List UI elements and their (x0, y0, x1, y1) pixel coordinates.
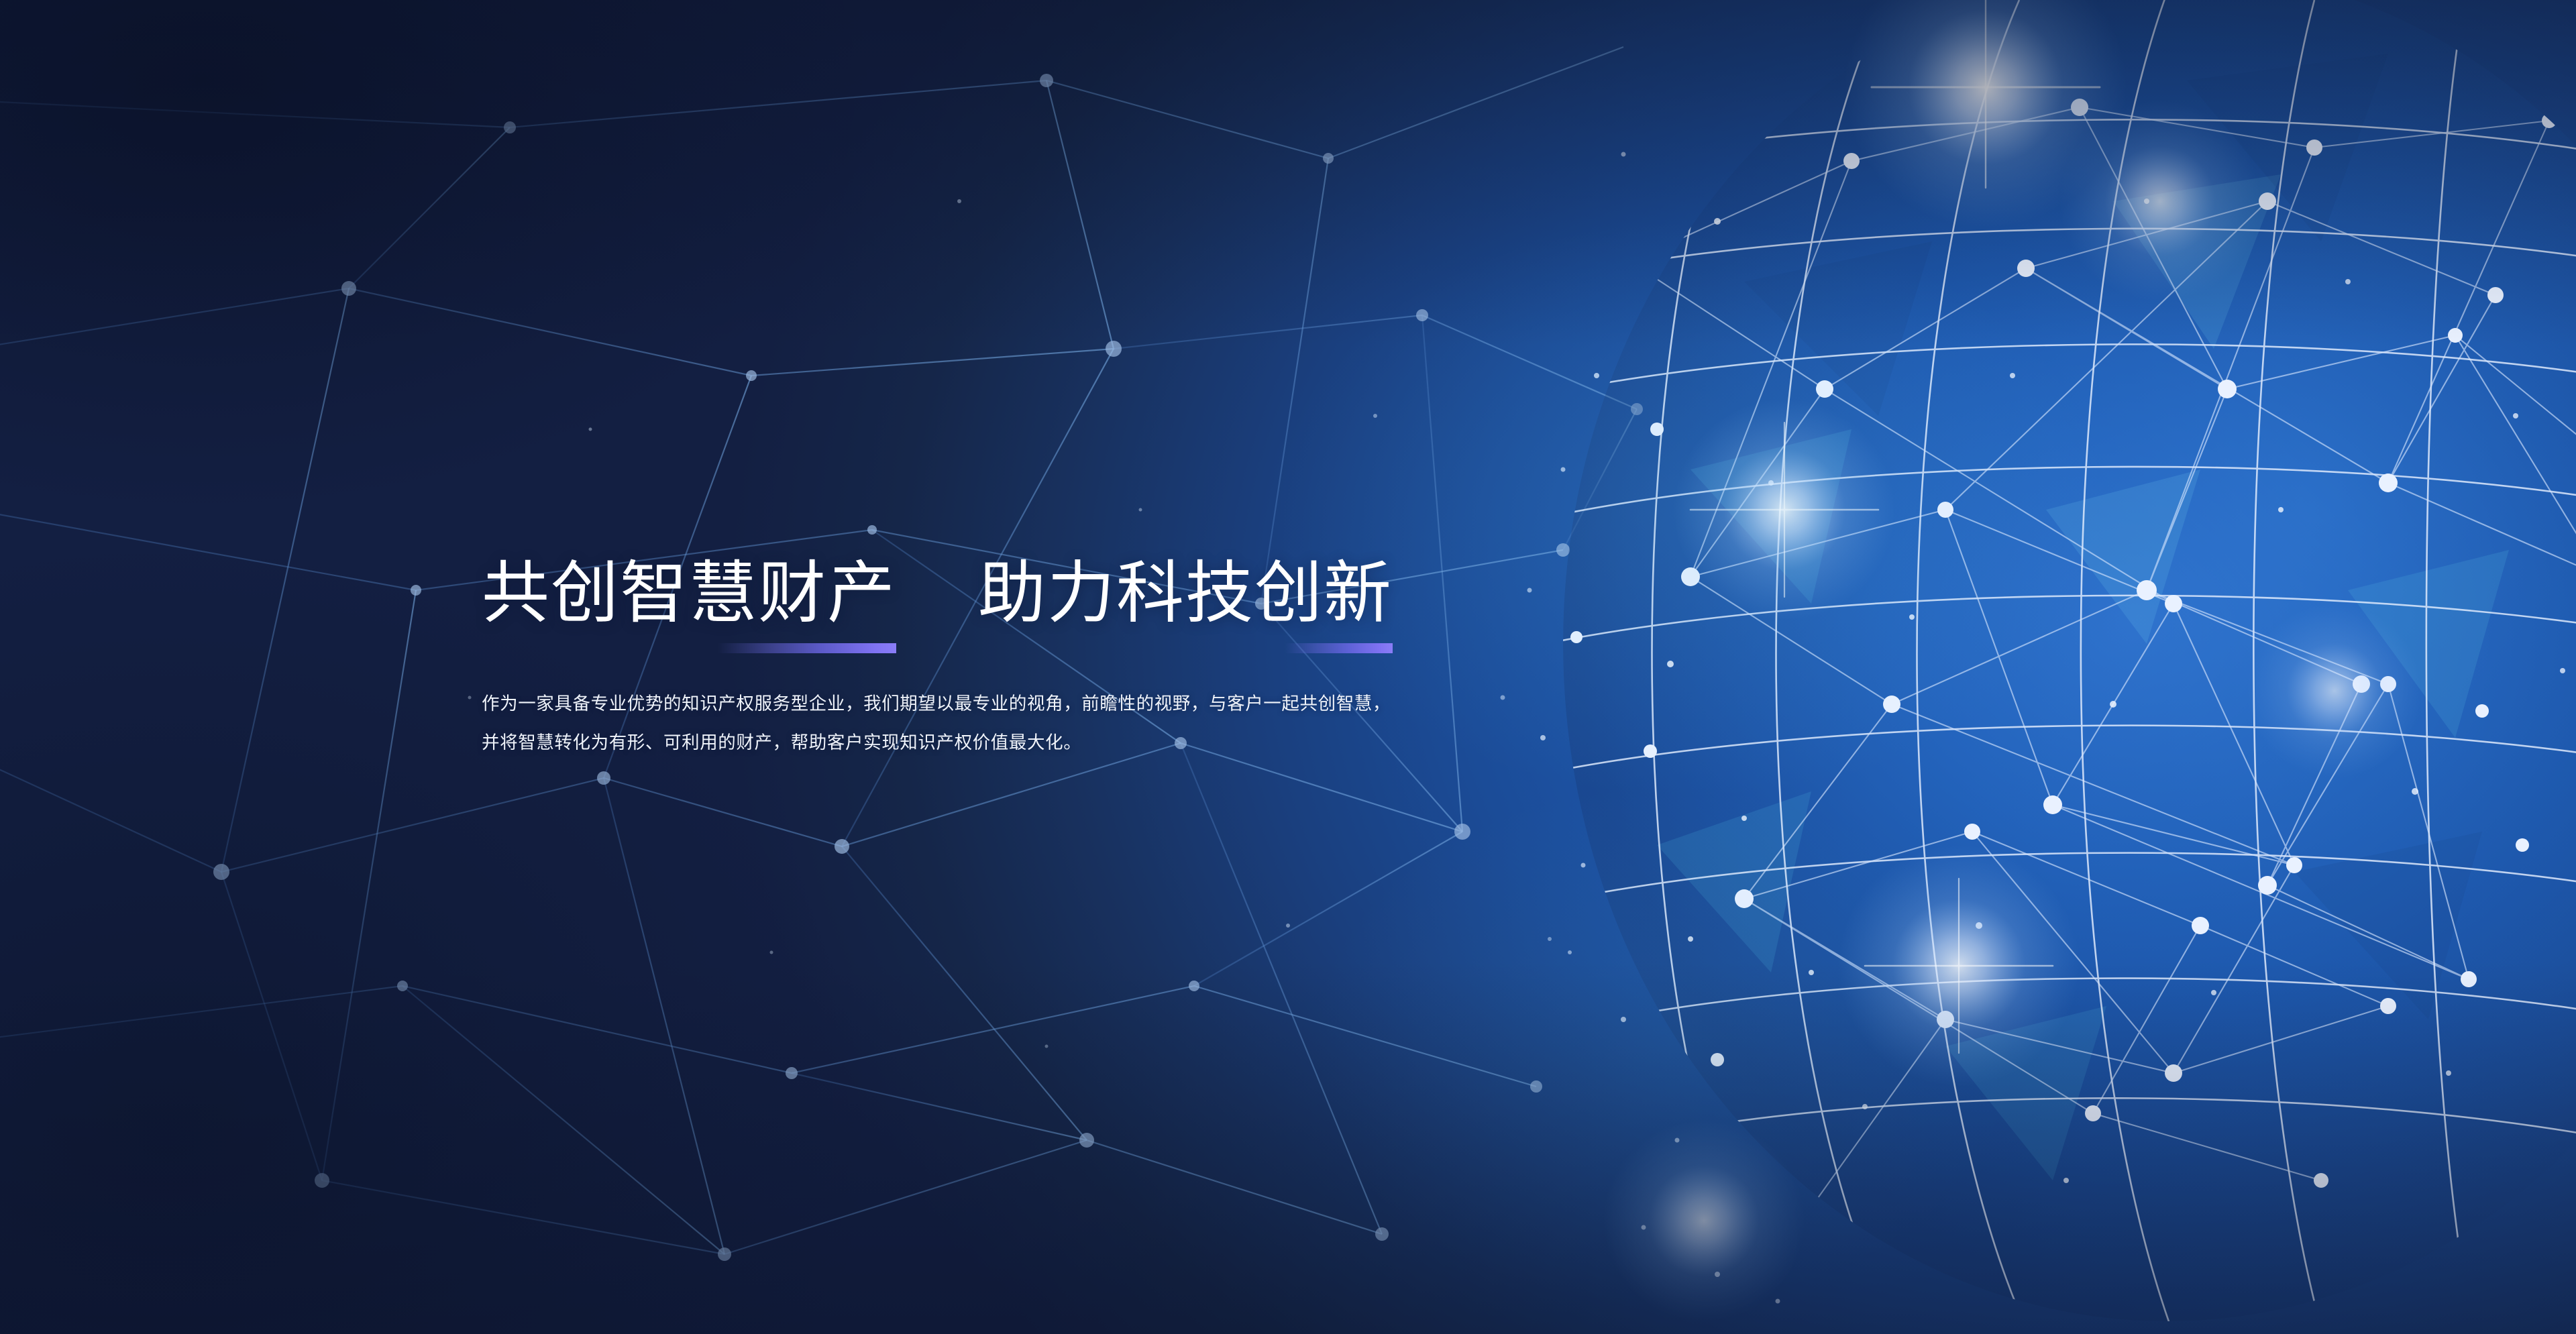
hero-content: 共创智慧财产 助力科技创新 作为一家具备专业优势的知识产权服务型企业，我们期望以… (482, 545, 1421, 780)
headline-group-left: 共创智慧财产 (482, 556, 896, 632)
headline-line-left: 共创智慧财产 (482, 556, 896, 632)
hero-description: 作为一家具备专业优势的知识产权服务型企业，我们期望以最专业的视角，前瞻性的视野，… (482, 684, 1391, 762)
headline-accent-underline-right (1285, 643, 1393, 653)
hero-banner: 共创智慧财产 助力科技创新 作为一家具备专业优势的知识产权服务型企业，我们期望以… (0, 0, 2576, 1334)
hero-headline: 共创智慧财产 助力科技创新 (482, 545, 1421, 632)
headline-accent-underline-left (718, 643, 896, 653)
headline-group-right: 助力科技创新 (978, 556, 1393, 632)
headline-line-right: 助力科技创新 (978, 556, 1393, 632)
